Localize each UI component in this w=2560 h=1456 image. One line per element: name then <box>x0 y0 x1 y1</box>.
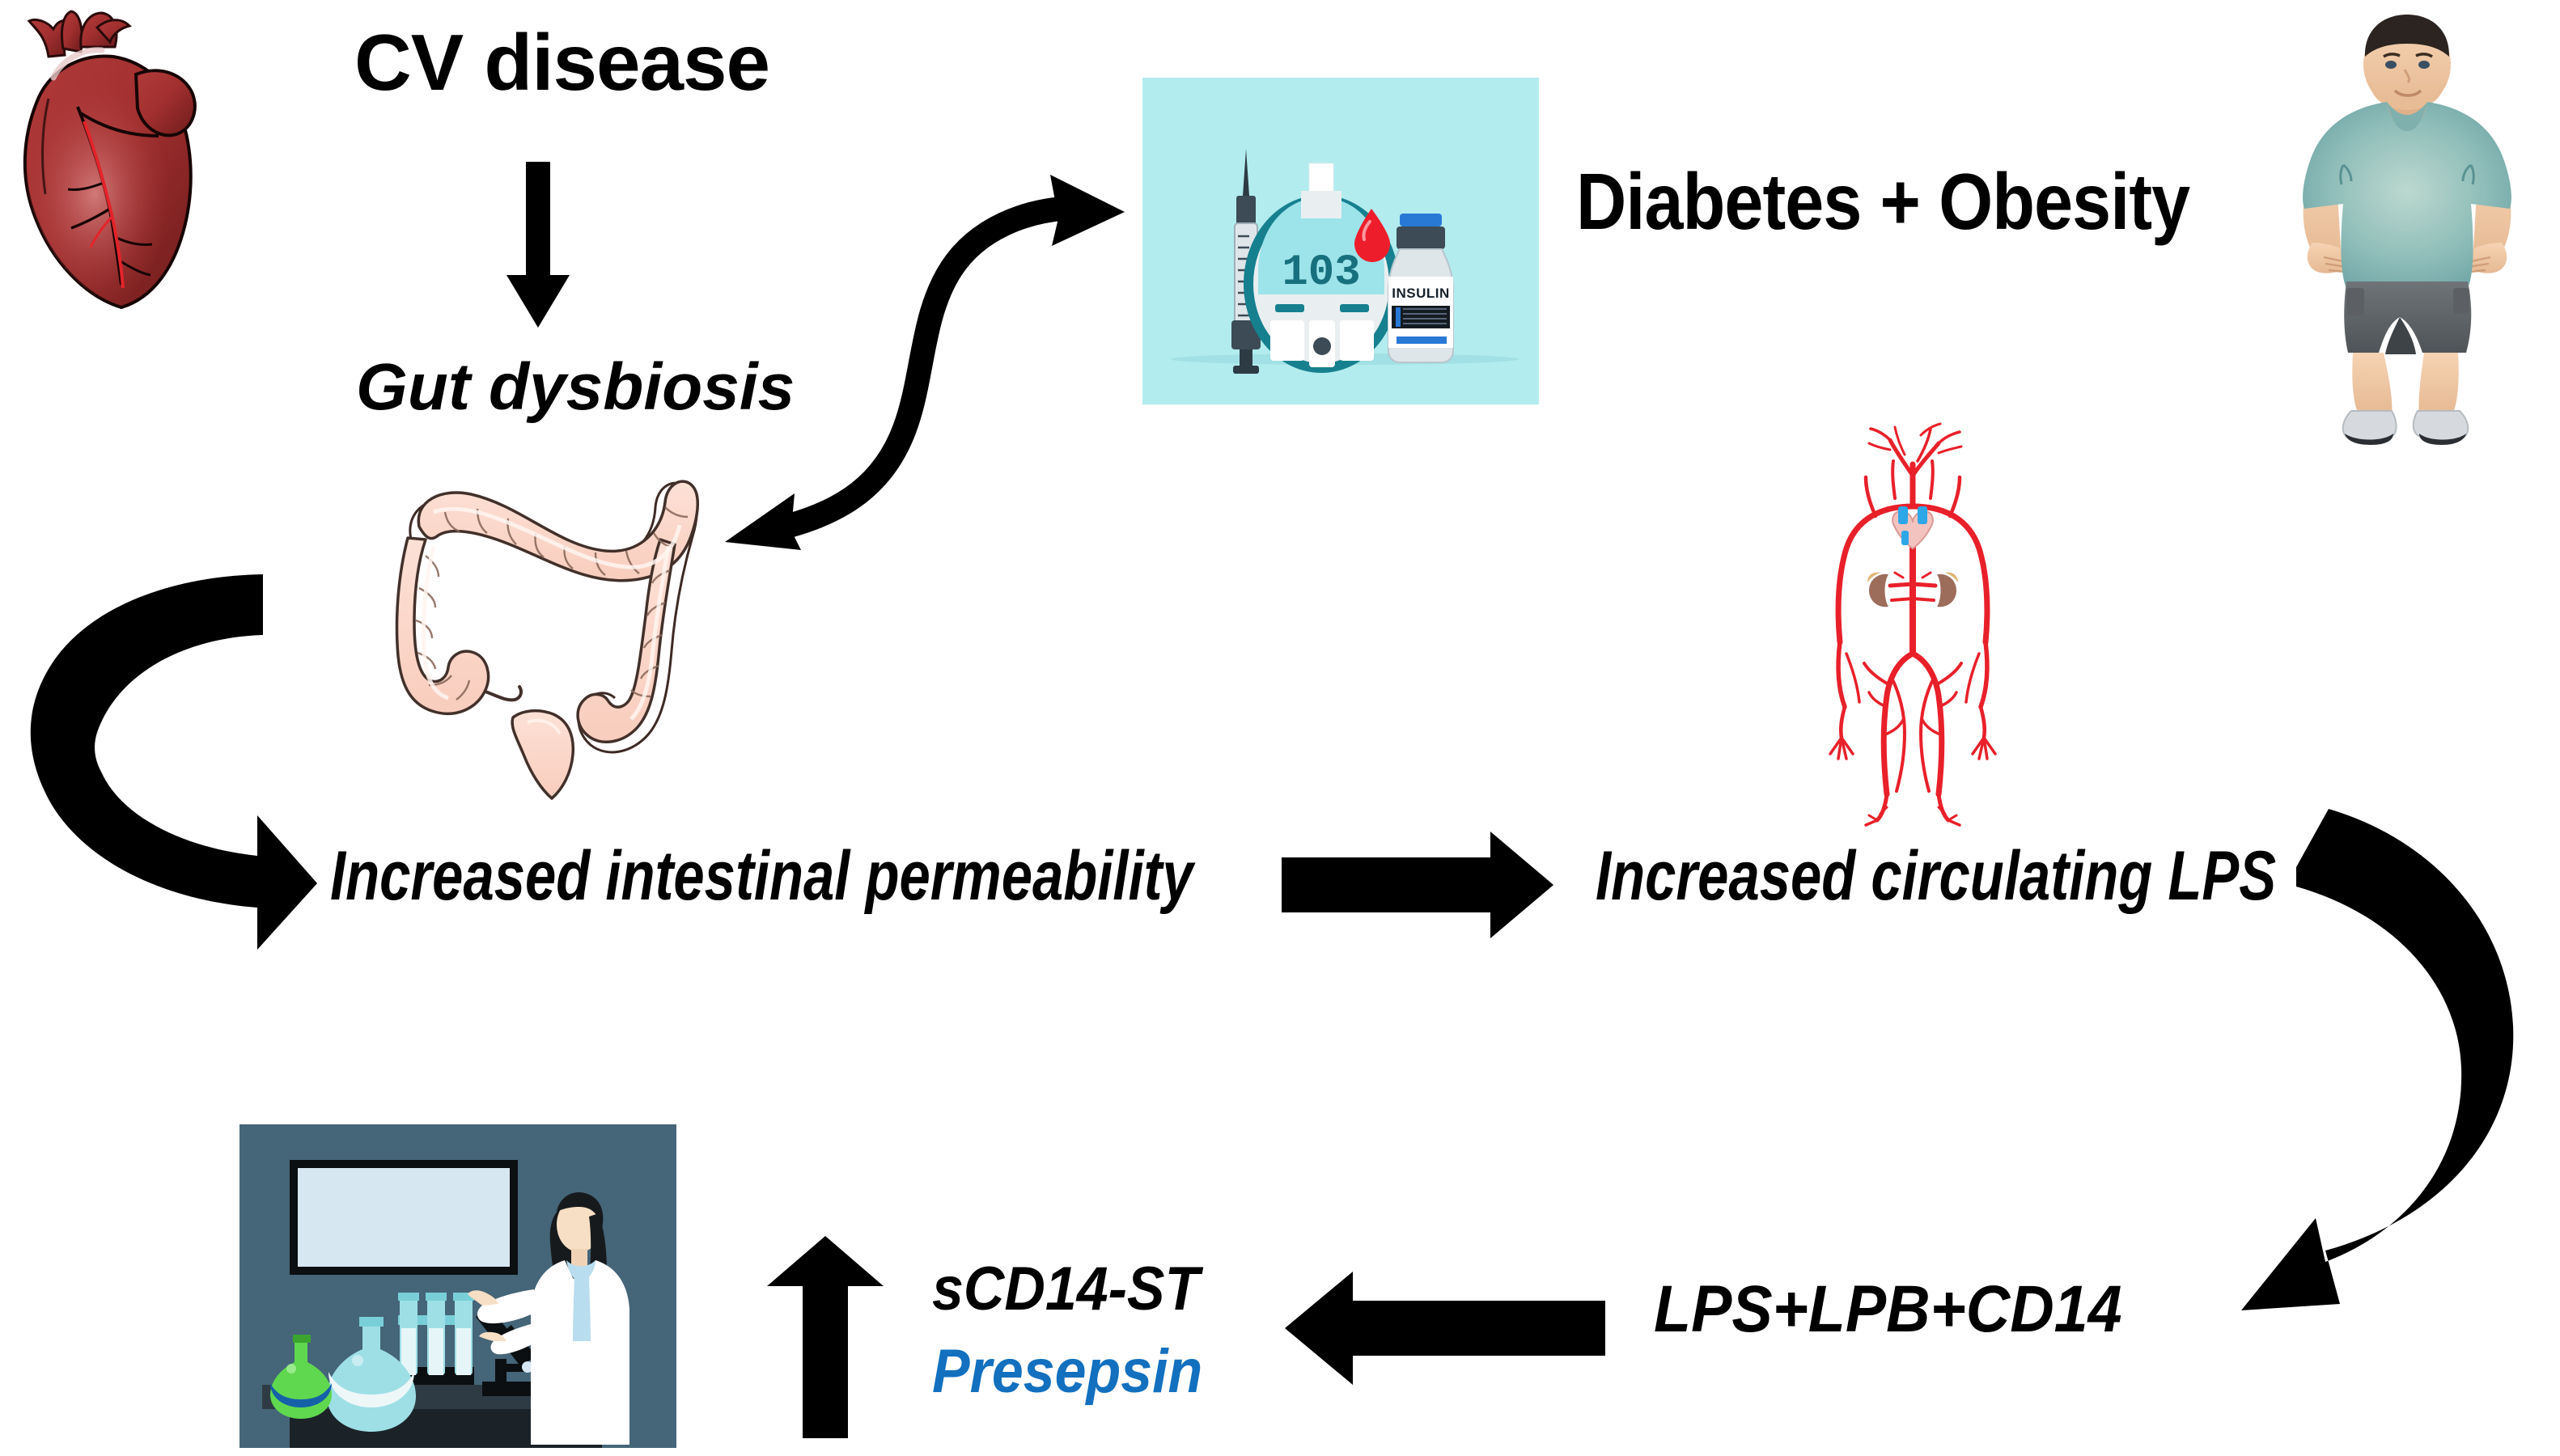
arrow-gut-dysbiosis-to-permeability <box>0 534 324 979</box>
label-increased-circulating-lps: Increased circulating LPS <box>1596 841 2276 911</box>
glucose-meter-reading: 103 <box>1282 248 1360 298</box>
laboratory-scientist-illustration <box>239 1124 676 1448</box>
label-presepsin: Presepsin <box>932 1341 1202 1403</box>
label-diabetes-obesity: Diabetes + Obesity <box>1576 162 2189 241</box>
label-scd14-st: sCD14-ST <box>932 1259 1199 1320</box>
page-title-cv-disease: CV disease <box>354 23 769 102</box>
arrow-circulating-lps-to-complex <box>2241 809 2560 1407</box>
diagram-canvas: CV disease Gut dysbiosis <box>0 0 2560 1456</box>
large-intestine-colon-illustration <box>348 449 728 805</box>
anatomical-heart-illustration <box>0 0 275 315</box>
label-increased-intestinal-permeability: Increased intestinal permeability <box>330 841 1193 911</box>
arrow-cv-disease-to-gut-dysbiosis <box>502 162 574 332</box>
obese-man-illustration <box>2265 6 2549 451</box>
diabetes-testing-kit-illustration: 103 INSULIN <box>1142 78 1539 404</box>
label-lps-lpb-cd14: LPS+LPB+CD14 <box>1654 1276 2122 1343</box>
arrow-complex-to-presepsin <box>1282 1272 1605 1385</box>
arrow-presepsin-to-laboratory <box>752 1236 898 1438</box>
arrow-colon-to-glucose-panel <box>712 146 1181 550</box>
arrow-permeability-to-circulating-lps <box>1282 832 1573 938</box>
insulin-vial-label: INSULIN <box>1392 286 1450 301</box>
circulatory-system-illustration <box>1799 411 2026 832</box>
